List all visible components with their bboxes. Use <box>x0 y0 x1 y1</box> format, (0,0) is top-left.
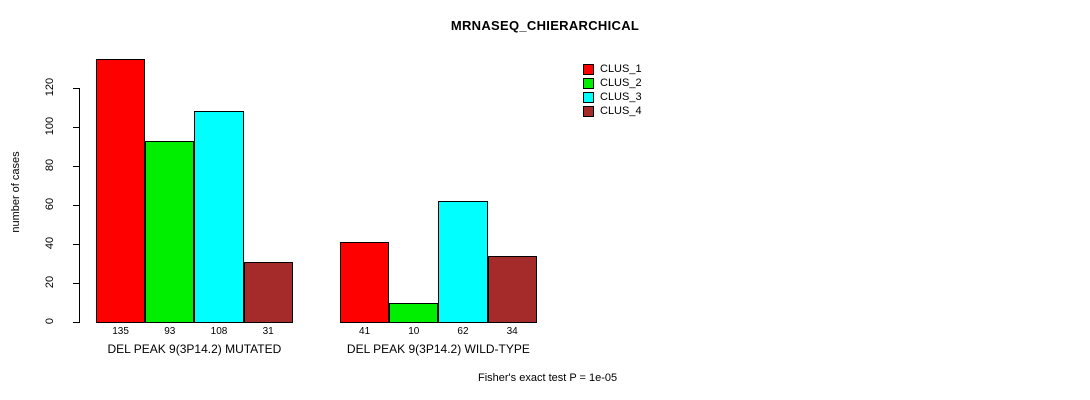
bar <box>389 303 438 324</box>
group-baseline <box>96 322 293 323</box>
legend-swatch-icon <box>583 64 594 75</box>
statistical-annotation: Fisher's exact test P = 1e-05 <box>478 372 617 384</box>
bar <box>488 256 537 323</box>
bar <box>145 141 194 323</box>
legend-swatch-icon <box>583 92 594 103</box>
bar-value-label: 93 <box>145 326 194 337</box>
legend-item: CLUS_2 <box>583 76 642 90</box>
bar <box>438 201 487 323</box>
bar <box>194 111 243 323</box>
bar <box>340 242 389 323</box>
legend-item-label: CLUS_3 <box>600 92 642 103</box>
bar-value-label: 31 <box>244 326 293 337</box>
bar <box>244 262 293 323</box>
group-baseline <box>340 322 537 323</box>
bar-value-label: 10 <box>389 326 438 337</box>
bar-chart-plot: MRNASEQ_CHIERARCHICAL number of cases 02… <box>0 0 1090 400</box>
bar-value-label: 108 <box>194 326 243 337</box>
legend-item-label: CLUS_4 <box>600 106 642 117</box>
legend-item: CLUS_3 <box>583 90 642 104</box>
legend-swatch-icon <box>583 106 594 117</box>
legend-item-label: CLUS_2 <box>600 78 642 89</box>
bar-value-label: 34 <box>488 326 537 337</box>
legend-item-label: CLUS_1 <box>600 64 642 75</box>
bar <box>96 59 145 323</box>
bars-layer <box>0 0 1090 323</box>
legend-item: CLUS_1 <box>583 62 642 76</box>
bar-value-label: 135 <box>96 326 145 337</box>
bar-value-label: 41 <box>340 326 389 337</box>
legend-swatch-icon <box>583 78 594 89</box>
legend-item: CLUS_4 <box>583 104 642 118</box>
chart-legend: CLUS_1CLUS_2CLUS_3CLUS_4 <box>583 62 642 118</box>
group-label: DEL PEAK 9(3P14.2) WILD-TYPE <box>280 342 597 356</box>
bar-value-label: 62 <box>438 326 487 337</box>
